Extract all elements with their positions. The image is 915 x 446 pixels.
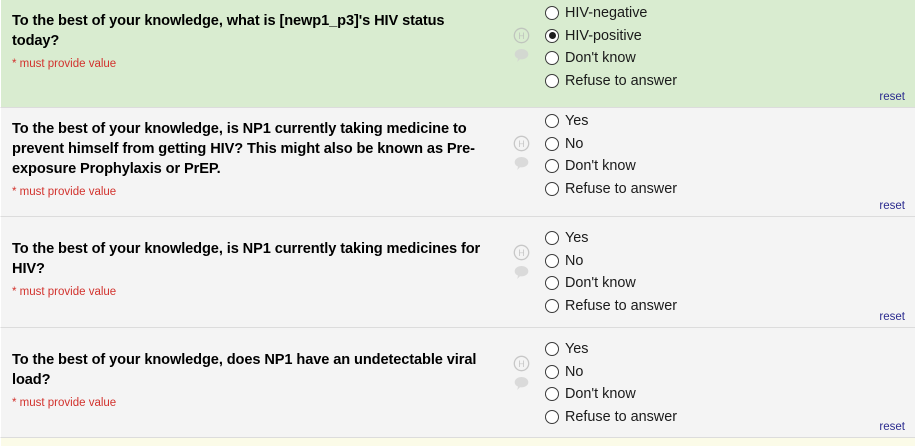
radio-label: Refuse to answer: [565, 297, 677, 315]
radio-button[interactable]: [545, 114, 559, 128]
question-icon-cell: H: [501, 108, 541, 216]
question-label: To the best of your knowledge, is NP1 cu…: [12, 119, 487, 179]
radio-label: Don't know: [565, 385, 636, 403]
question-label: To the best of your knowledge, is NP1 cu…: [12, 239, 487, 279]
radio-button[interactable]: [545, 276, 559, 290]
required-note: * must provide value: [12, 185, 487, 199]
radio-option[interactable]: HIV-positive: [545, 25, 915, 48]
comment-bubble-icon[interactable]: [513, 264, 530, 281]
question-options-cell: Yes No Don't know Refuse to answer reset: [541, 328, 915, 437]
radio-option[interactable]: Don't know: [545, 383, 915, 406]
radio-label: No: [565, 363, 583, 381]
radio-button[interactable]: [545, 342, 559, 356]
radio-option[interactable]: No: [545, 361, 915, 384]
reset-link[interactable]: reset: [879, 200, 905, 212]
history-icon[interactable]: H: [513, 27, 530, 44]
reset-wrapper: reset: [879, 196, 905, 214]
radio-option[interactable]: Refuse to answer: [545, 295, 915, 318]
radio-button[interactable]: [545, 387, 559, 401]
radio-button[interactable]: [545, 159, 559, 173]
question-icon-cell: H: [501, 0, 541, 107]
radio-label: Don't know: [565, 49, 636, 67]
required-note: * must provide value: [12, 285, 487, 299]
svg-text:H: H: [518, 359, 525, 369]
svg-text:H: H: [518, 139, 525, 149]
radio-label: Don't know: [565, 157, 636, 175]
question-label: To the best of your knowledge, does NP1 …: [12, 350, 487, 390]
radio-button[interactable]: [545, 29, 559, 43]
question-text-cell: To the best of your knowledge, does NP1 …: [1, 328, 501, 437]
history-icon[interactable]: H: [513, 355, 530, 372]
radio-label: HIV-negative: [565, 4, 647, 22]
radio-option[interactable]: Yes: [545, 227, 915, 250]
radio-option[interactable]: HIV-negative: [545, 2, 915, 25]
reset-link[interactable]: reset: [879, 91, 905, 103]
reset-link[interactable]: reset: [879, 421, 905, 433]
question-row: To the best of your knowledge, is NP1 cu…: [0, 108, 915, 217]
radio-option[interactable]: Don't know: [545, 155, 915, 178]
question-options-cell: Yes No Don't know Refuse to answer reset: [541, 108, 915, 216]
svg-text:H: H: [518, 31, 525, 41]
radio-label: Don't know: [565, 274, 636, 292]
radio-button[interactable]: [545, 254, 559, 268]
radio-option[interactable]: Yes: [545, 110, 915, 133]
radio-button[interactable]: [545, 182, 559, 196]
radio-label: HIV-positive: [565, 27, 642, 45]
radio-option[interactable]: Don't know: [545, 47, 915, 70]
question-label: To the best of your knowledge, what is […: [12, 11, 487, 51]
question-row: To the best of your knowledge, is NP1 cu…: [0, 217, 915, 328]
radio-button[interactable]: [545, 365, 559, 379]
radio-button[interactable]: [545, 51, 559, 65]
question-text-cell: To the best of your knowledge, is NP1 cu…: [1, 108, 501, 216]
comment-bubble-icon[interactable]: [513, 155, 530, 172]
history-icon[interactable]: H: [513, 244, 530, 261]
svg-text:H: H: [518, 248, 525, 258]
radio-label: No: [565, 135, 583, 153]
radio-button[interactable]: [545, 137, 559, 151]
radio-button[interactable]: [545, 299, 559, 313]
next-section-strip: [0, 438, 915, 446]
required-note: * must provide value: [12, 57, 487, 71]
radio-option[interactable]: Refuse to answer: [545, 406, 915, 429]
radio-option[interactable]: Refuse to answer: [545, 178, 915, 201]
radio-button[interactable]: [545, 6, 559, 20]
question-text-cell: To the best of your knowledge, what is […: [1, 0, 501, 107]
radio-option[interactable]: Don't know: [545, 272, 915, 295]
history-icon[interactable]: H: [513, 135, 530, 152]
reset-wrapper: reset: [879, 307, 905, 325]
question-options-cell: HIV-negative HIV-positive Don't know Ref…: [541, 0, 915, 107]
radio-label: Refuse to answer: [565, 180, 677, 198]
reset-link[interactable]: reset: [879, 311, 905, 323]
comment-bubble-icon[interactable]: [513, 375, 530, 392]
radio-label: Yes: [565, 112, 588, 130]
radio-button[interactable]: [545, 74, 559, 88]
comment-bubble-icon[interactable]: [513, 47, 530, 64]
radio-option[interactable]: No: [545, 133, 915, 156]
radio-button[interactable]: [545, 410, 559, 424]
question-icon-cell: H: [501, 328, 541, 437]
survey-form: To the best of your knowledge, what is […: [0, 0, 915, 446]
radio-label: Yes: [565, 340, 588, 358]
reset-wrapper: reset: [879, 87, 905, 105]
radio-label: No: [565, 252, 583, 270]
question-row: To the best of your knowledge, does NP1 …: [0, 328, 915, 438]
radio-option[interactable]: Yes: [545, 338, 915, 361]
question-row: To the best of your knowledge, what is […: [0, 0, 915, 108]
radio-option[interactable]: No: [545, 250, 915, 273]
question-options-cell: Yes No Don't know Refuse to answer reset: [541, 217, 915, 327]
radio-label: Yes: [565, 229, 588, 247]
question-icon-cell: H: [501, 217, 541, 327]
radio-button[interactable]: [545, 231, 559, 245]
radio-label: Refuse to answer: [565, 72, 677, 90]
radio-label: Refuse to answer: [565, 408, 677, 426]
question-text-cell: To the best of your knowledge, is NP1 cu…: [1, 217, 501, 327]
radio-option[interactable]: Refuse to answer: [545, 70, 915, 93]
reset-wrapper: reset: [879, 417, 905, 435]
required-note: * must provide value: [12, 396, 487, 410]
